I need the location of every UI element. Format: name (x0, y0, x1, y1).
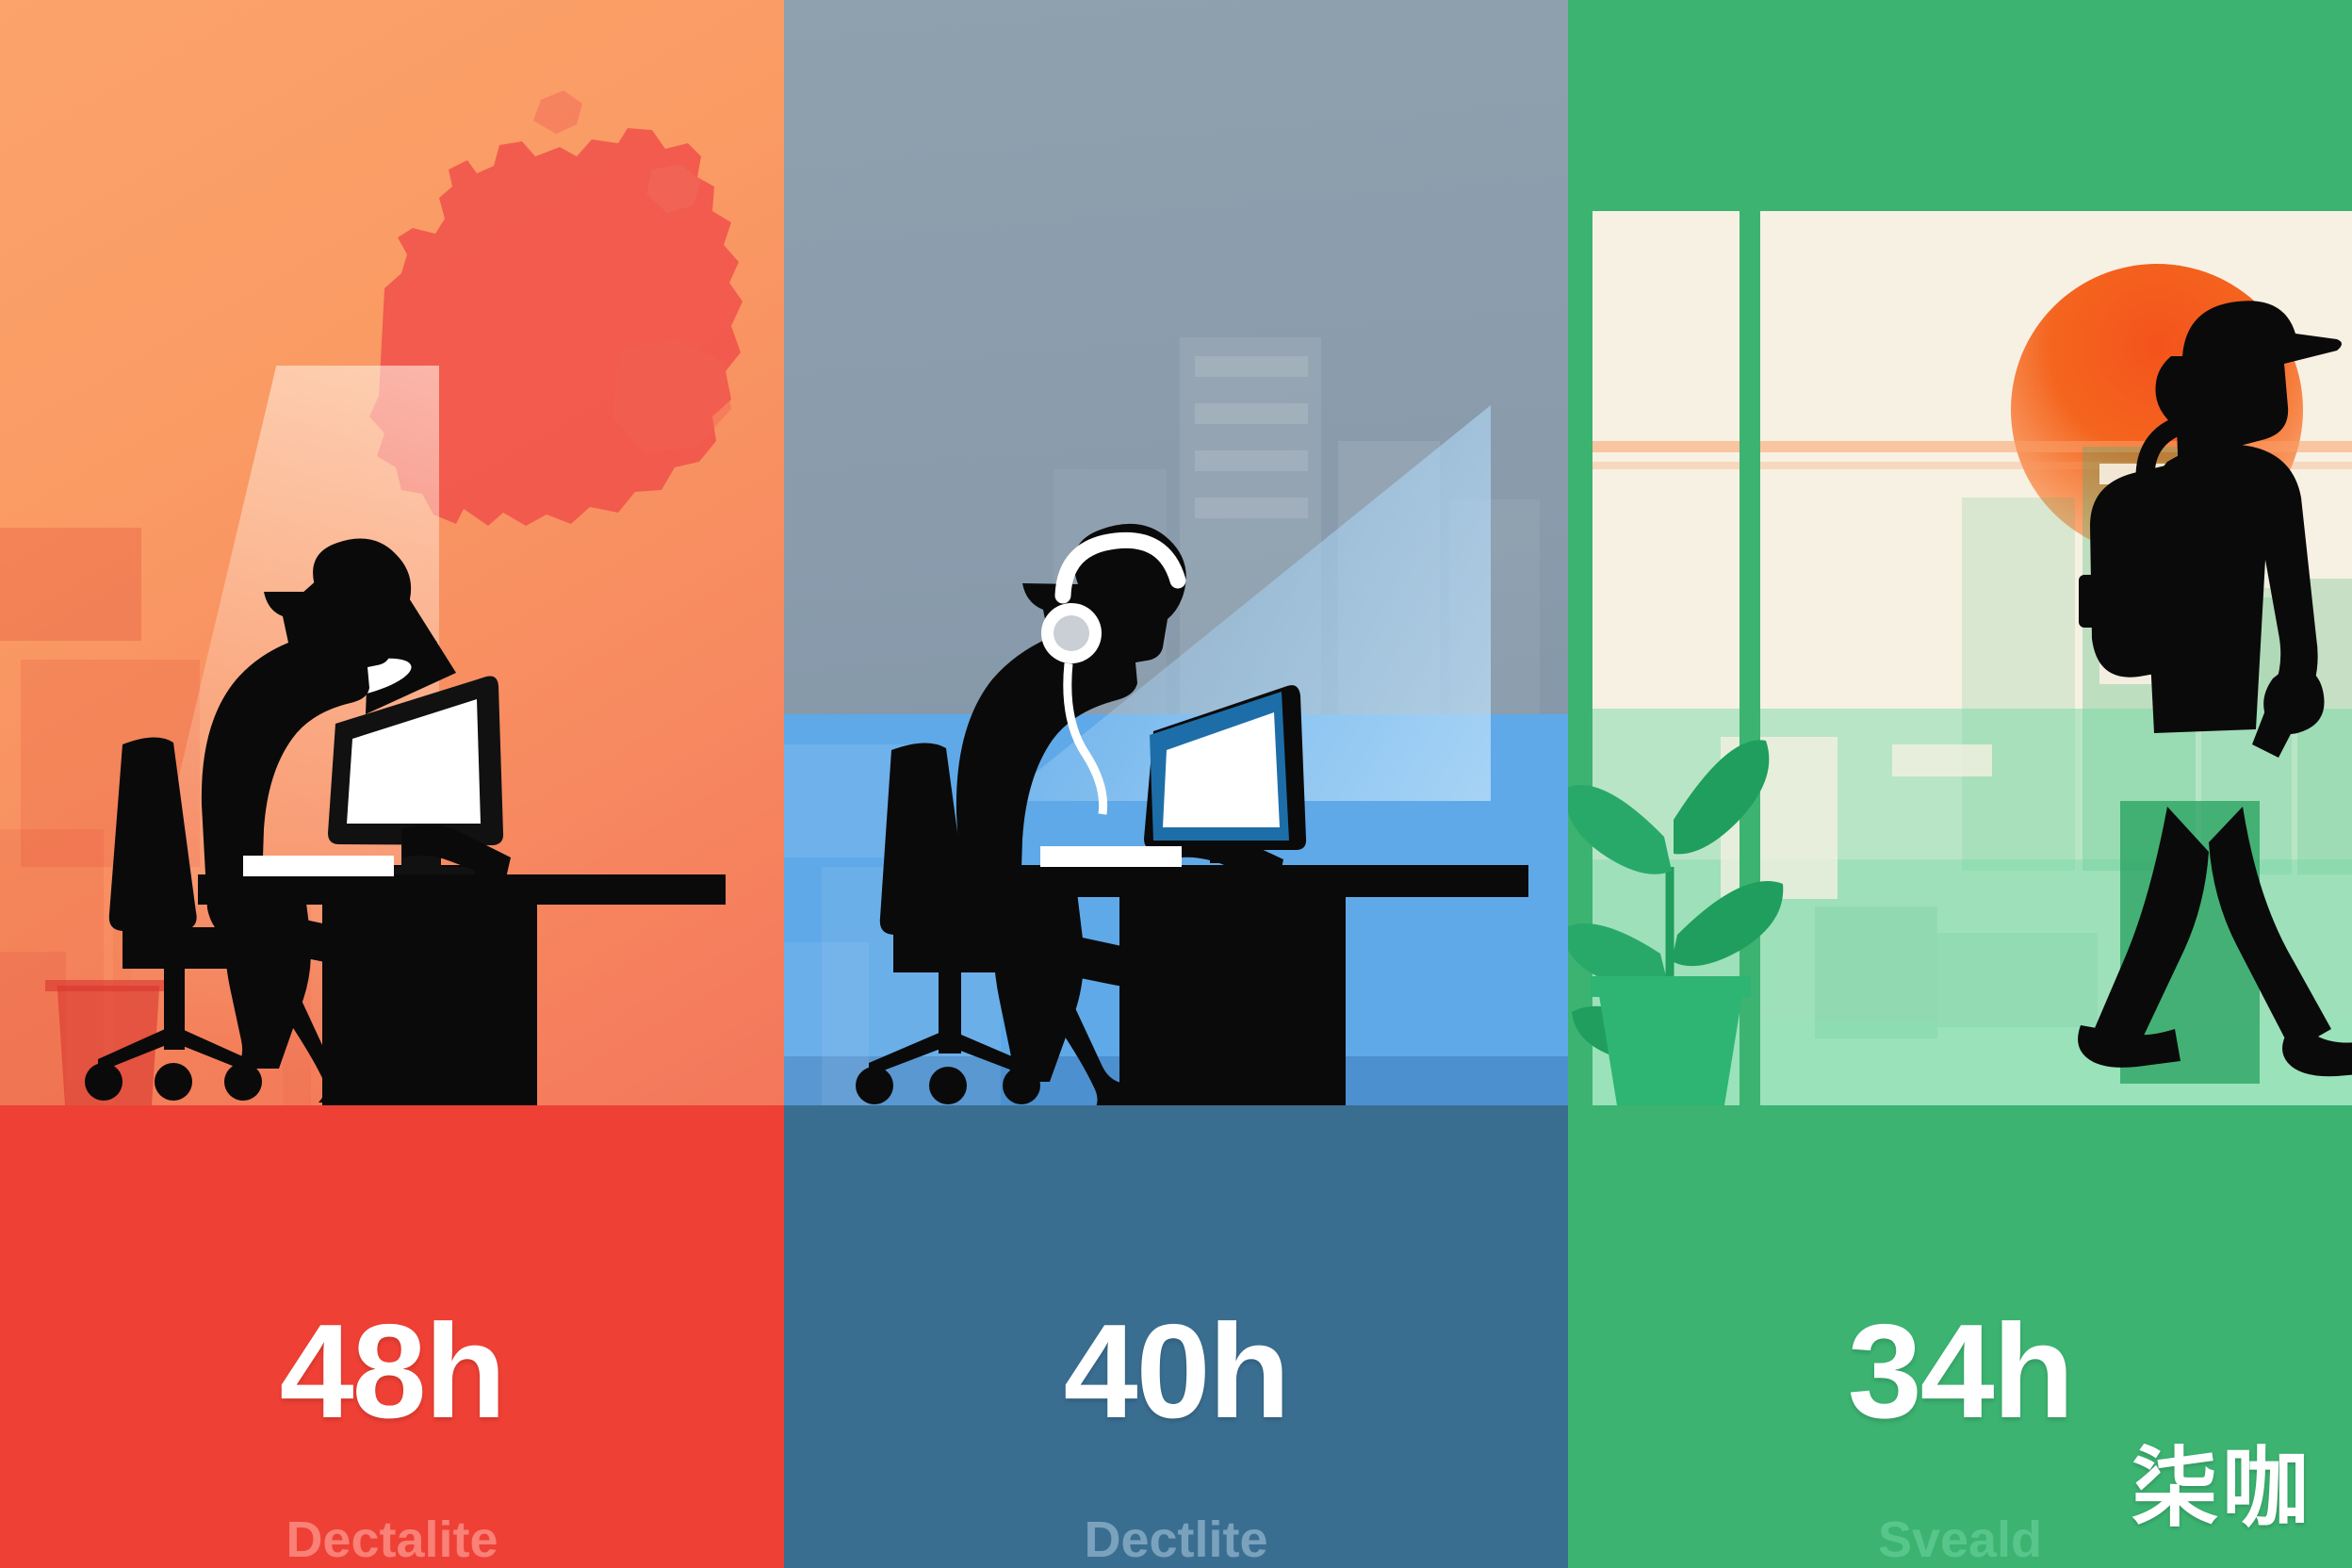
scene-person-walking-home-at-sunset (1568, 0, 2352, 1105)
bg-building-window-band (1195, 403, 1308, 424)
walking-person-with-backpack-silhouette (2077, 283, 2352, 1102)
desk-pedestal (322, 903, 537, 1105)
desk-top (198, 874, 726, 905)
bg-block (1937, 933, 2098, 1027)
watermark: 柒咖 (2131, 1445, 2312, 1532)
panel-overwork: 48h Dectalite (0, 0, 784, 1568)
footer-standard: 40h Dectlite (784, 1105, 1568, 1568)
keyboard (1040, 846, 1182, 867)
window-mullion-top (1568, 185, 2352, 211)
caption-standard: Dectlite (784, 1514, 1568, 1565)
caption-overwork: Dectalite (0, 1514, 784, 1565)
potted-plant (1568, 584, 1794, 1105)
panel-balanced: 34h Sveald 柒咖 (1568, 0, 2352, 1568)
bg-block (1815, 906, 1937, 1038)
bg-building-window-band (1195, 450, 1308, 471)
bg-building-window-band (1195, 498, 1308, 518)
hours-label-standard: 40h (784, 1305, 1568, 1439)
scene-person-at-desk-with-lamp (0, 0, 784, 1105)
bg-block (1892, 744, 1992, 776)
bg-building-window-band (1195, 356, 1308, 377)
desk-top (972, 865, 1528, 897)
infographic-canvas: 48h Dectalite (0, 0, 2352, 1568)
hours-label-overwork: 48h (0, 1305, 784, 1439)
desk-pedestal (1119, 895, 1346, 1105)
keyboard (243, 856, 394, 876)
laptop (1131, 660, 1329, 876)
bg-block (0, 528, 141, 641)
hours-label-balanced: 34h (1568, 1305, 2352, 1439)
footer-balanced: 34h Sveald 柒咖 (1568, 1105, 2352, 1568)
panel-standard: 40h Dectlite (784, 0, 1568, 1568)
footer-overwork: 48h Dectalite (0, 1105, 784, 1568)
bg-block (0, 952, 66, 1105)
scene-person-at-laptop-with-headphones (784, 0, 1568, 1105)
